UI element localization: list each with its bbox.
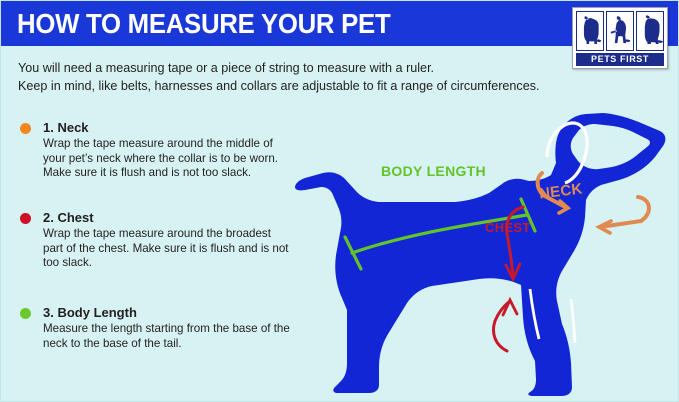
dog-standing-icon: [606, 11, 634, 51]
label-body-length: BODY LENGTH: [381, 163, 486, 179]
step-desc-line: Wrap the tape measure around the middle …: [43, 137, 300, 152]
dog-sitting-icon: [576, 11, 604, 51]
bullet-dot-neck: [20, 123, 31, 134]
infographic-page: HOW TO MEASURE YOUR PET PETS FIRST Y: [0, 0, 679, 402]
page-title: HOW TO MEASURE YOUR PET: [17, 8, 390, 40]
step-body: 3. Body Length Measure the length starti…: [43, 304, 300, 351]
intro-line-2: Keep in mind, like belts, harnesses and …: [18, 77, 638, 95]
step-description: Wrap the tape measure around the broades…: [43, 227, 300, 271]
intro-line-1: You will need a measuring tape or a piec…: [18, 59, 638, 77]
step-item-neck: 1. Neck Wrap the tape measure around the…: [20, 119, 300, 181]
label-chest: CHEST: [485, 220, 531, 235]
bullet-dot-chest: [20, 213, 31, 224]
step-item-chest: 2. Chest Wrap the tape measure around th…: [20, 209, 300, 271]
step-desc-line: Make sure it is flush and is not too sla…: [43, 166, 300, 181]
step-desc-line: part of the chest. Make sure it is flush…: [43, 242, 300, 257]
step-desc-line: neck to the base of the tail.: [43, 337, 300, 352]
step-desc-line: Measure the length starting from the bas…: [43, 322, 300, 337]
step-body: 1. Neck Wrap the tape measure around the…: [43, 119, 300, 181]
dog-illustration: BODY LENGTH NECK CHEST: [289, 105, 679, 402]
step-title: 1. Neck: [43, 119, 300, 136]
step-title: 3. Body Length: [43, 304, 300, 321]
step-description: Wrap the tape measure around the middle …: [43, 137, 300, 181]
step-desc-line: too slack.: [43, 256, 300, 271]
step-item-body-length: 3. Body Length Measure the length starti…: [20, 304, 300, 351]
dog-begging-icon: [636, 11, 664, 51]
dog-silhouette-icon: [295, 113, 665, 396]
step-title: 2. Chest: [43, 209, 300, 226]
dog-rear-leg-line: [571, 299, 575, 343]
logo-icon-row: [576, 11, 664, 51]
intro-text: You will need a measuring tape or a piec…: [18, 59, 638, 95]
step-body: 2. Chest Wrap the tape measure around th…: [43, 209, 300, 271]
bullet-dot-body-length: [20, 308, 31, 319]
step-desc-line: Wrap the tape measure around the broades…: [43, 227, 300, 242]
step-desc-line: your pet’s neck where the collar is to b…: [43, 152, 300, 167]
step-description: Measure the length starting from the bas…: [43, 322, 300, 351]
